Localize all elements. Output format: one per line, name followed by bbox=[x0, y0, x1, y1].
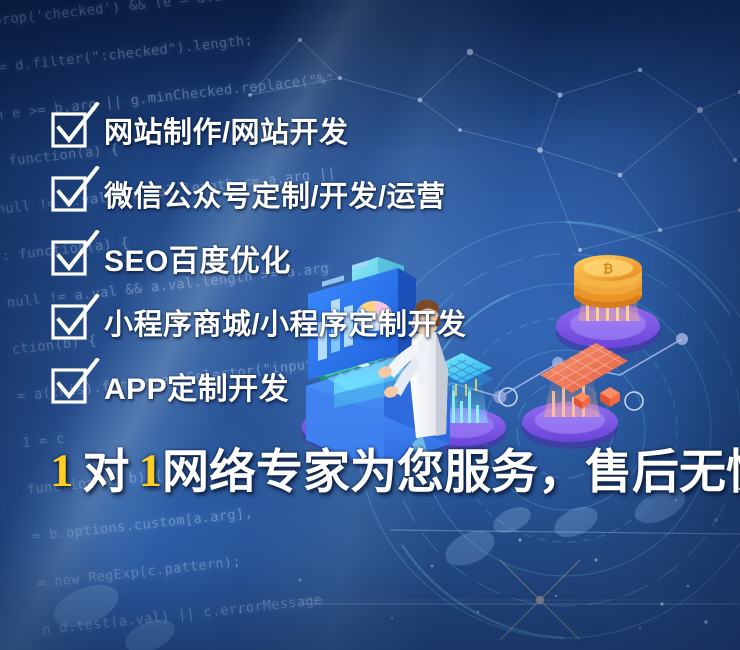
checkbox-checked-icon bbox=[52, 113, 86, 147]
promo-banner: l.prop('checked') && (e = d.index(b.el))… bbox=[0, 0, 740, 650]
feature-label: 网站制作/网站开发 bbox=[104, 109, 349, 151]
feature-item[interactable]: 微信公众号定制/开发/运营 bbox=[52, 162, 692, 226]
checkbox-checked-icon bbox=[52, 177, 86, 211]
checkbox-checked-icon bbox=[52, 241, 86, 275]
feature-label: 小程序商城/小程序定制开发 bbox=[104, 301, 467, 343]
feature-item[interactable]: 小程序商城/小程序定制开发 bbox=[52, 290, 692, 354]
feature-list: 网站制作/网站开发 微信公众号定制/开发/运营 SEO百度优化 bbox=[52, 98, 692, 418]
checkbox-checked-icon bbox=[52, 369, 86, 403]
headline: 1 对 1 网络专家为您服务，售后无忧！ bbox=[50, 448, 740, 495]
headline-number-second: 1 bbox=[139, 448, 163, 495]
headline-number-first: 1 bbox=[50, 448, 74, 495]
feature-label: SEO百度优化 bbox=[104, 236, 291, 280]
feature-label: 微信公众号定制/开发/运营 bbox=[104, 173, 446, 215]
feature-item[interactable]: SEO百度优化 bbox=[52, 226, 692, 290]
feature-item[interactable]: 网站制作/网站开发 bbox=[52, 98, 692, 162]
headline-tail-text: 网络专家为您服务，售后无忧！ bbox=[162, 448, 740, 495]
feature-label: APP定制开发 bbox=[104, 364, 289, 408]
headline-middle-word: 对 bbox=[83, 448, 130, 495]
checkbox-checked-icon bbox=[52, 305, 86, 339]
feature-item[interactable]: APP定制开发 bbox=[52, 354, 692, 418]
